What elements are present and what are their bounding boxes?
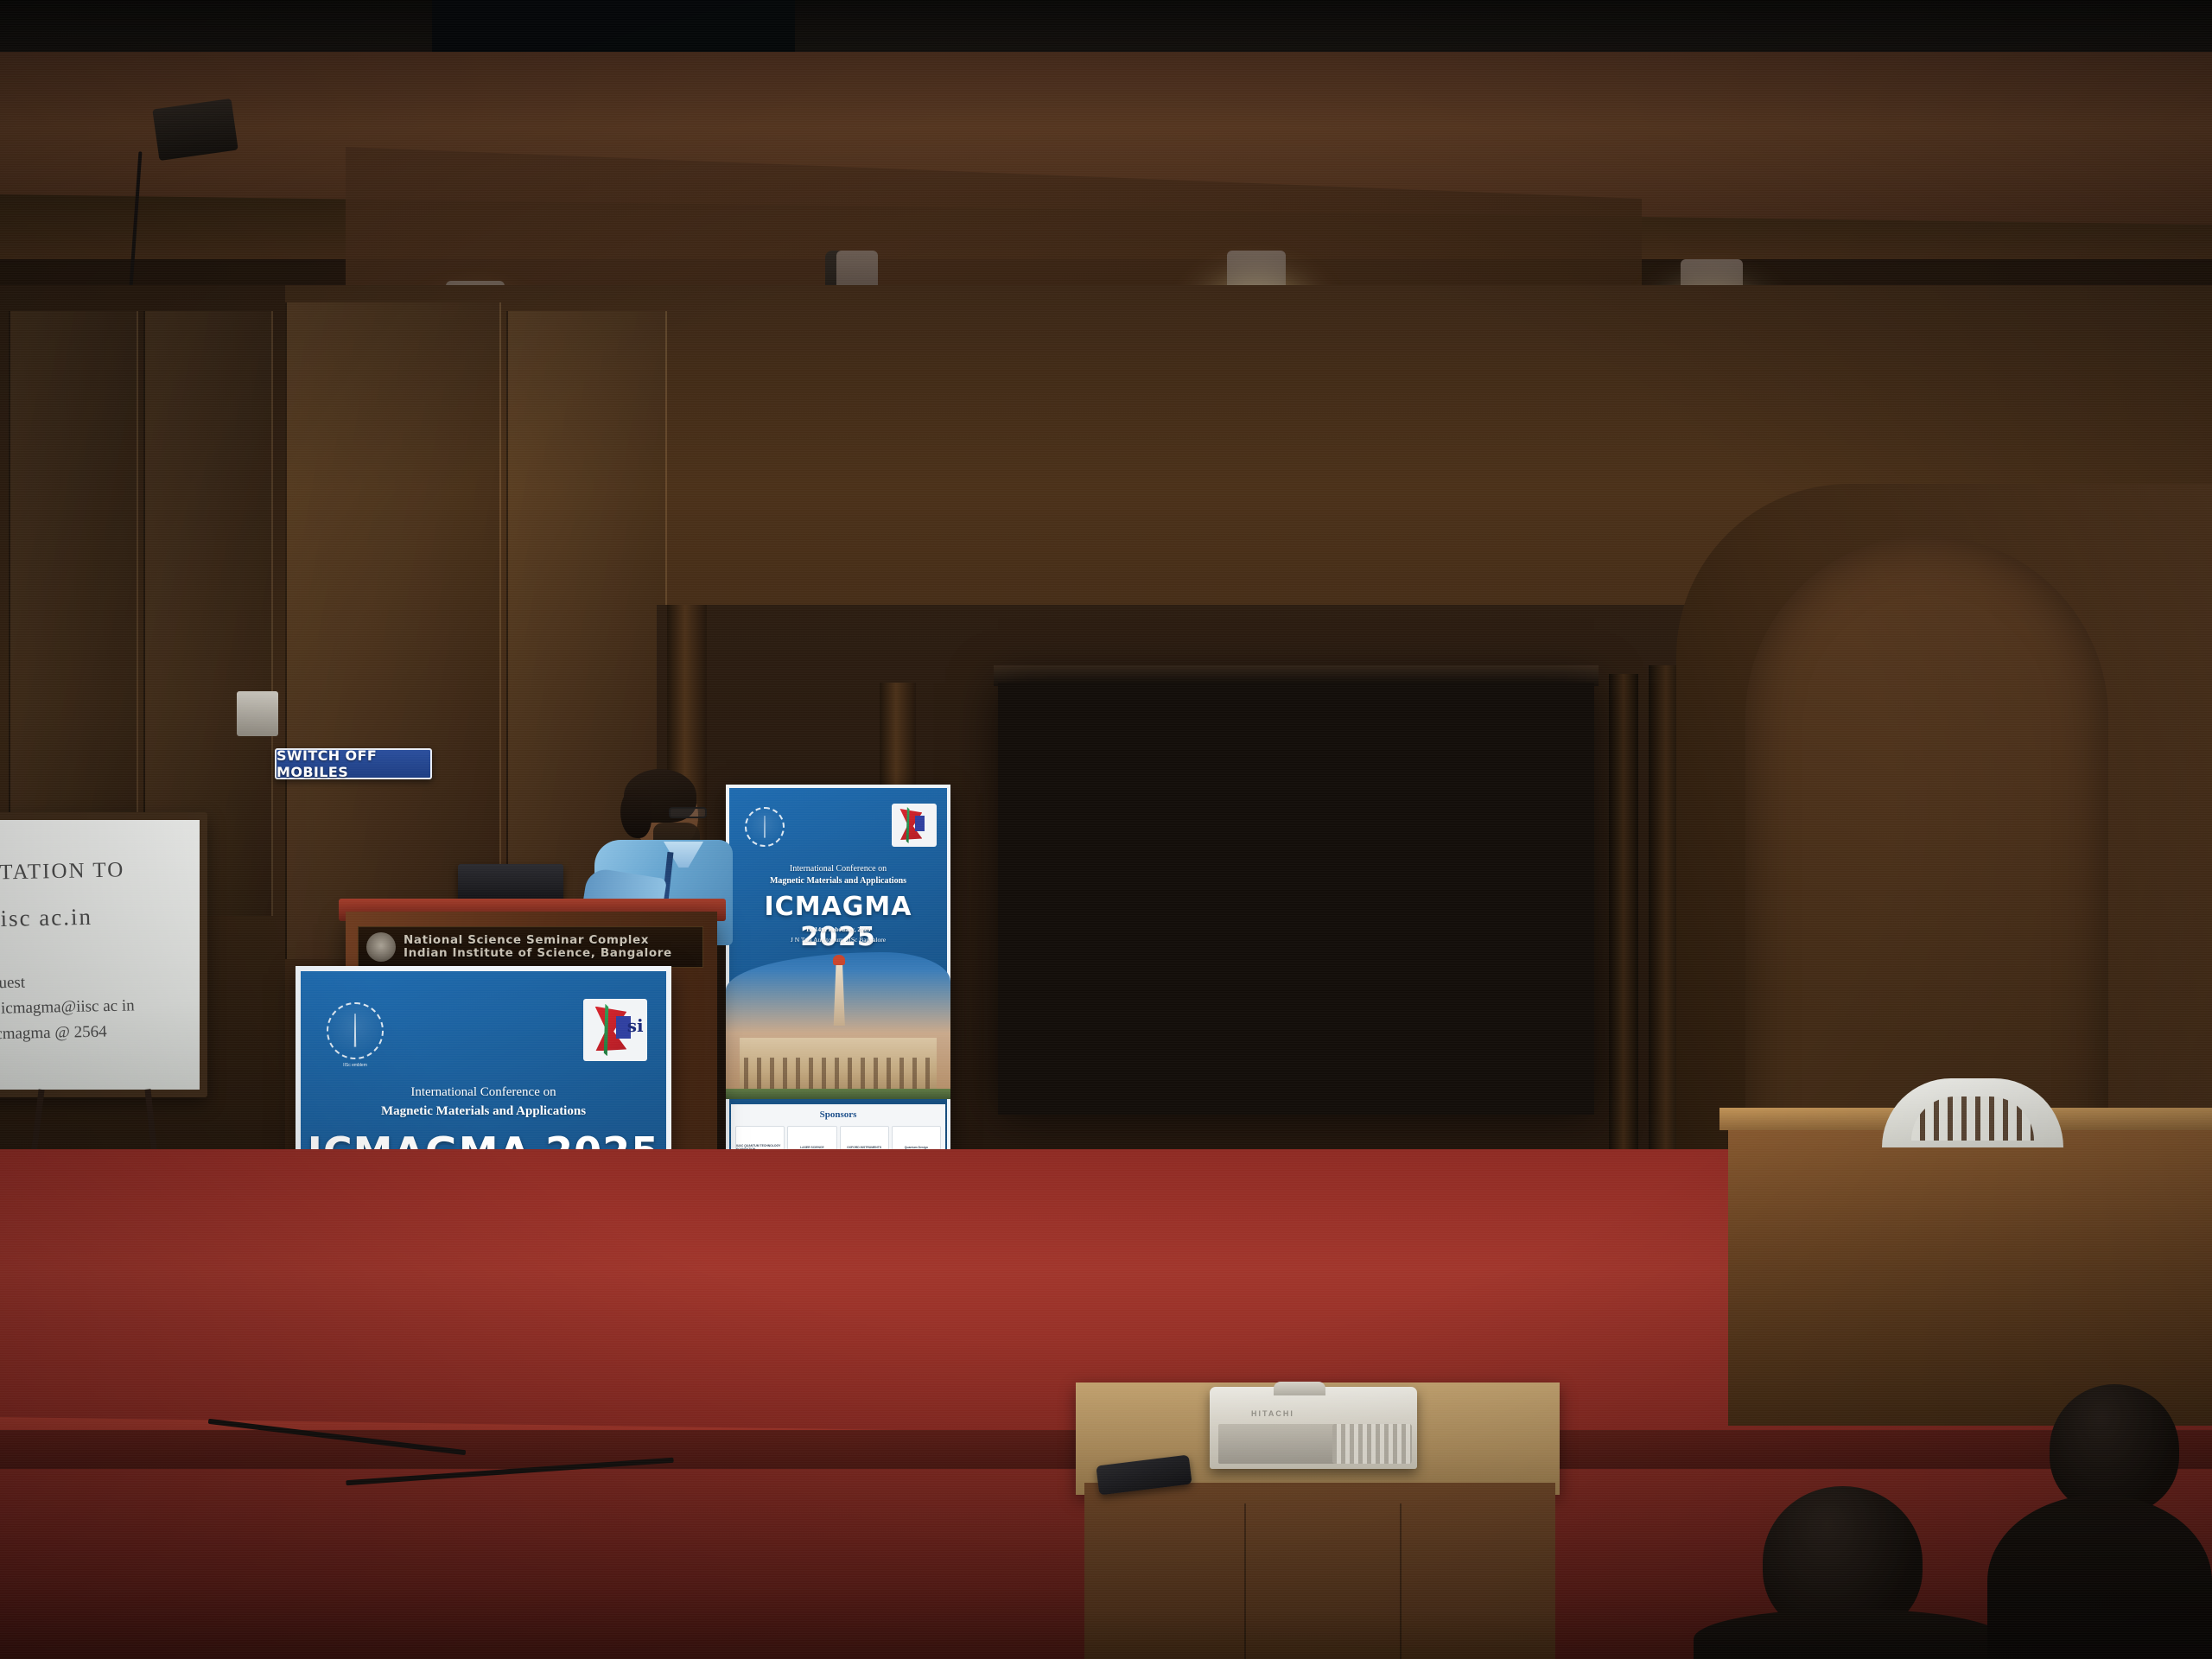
iisc-logo-icon: [745, 807, 785, 847]
banner-back-org-line1: International Conference on: [726, 864, 950, 874]
switch-off-mobiles-label: SWITCH OFF MOBILES: [276, 747, 430, 780]
iisc-logo-icon: [327, 1002, 384, 1059]
podium-line-1: National Science Seminar Complex: [404, 934, 672, 947]
projector[interactable]: HITACHI: [1210, 1387, 1417, 1469]
banner-front-org-line2: Magnetic Materials and Applications: [296, 1104, 671, 1119]
banner-front-org-line1: International Conference on: [296, 1085, 671, 1100]
whiteboard-line-3: quest: [0, 974, 25, 994]
banner-back-iisc-photo: [726, 952, 950, 1099]
podium-nameplate: National Science Seminar Complex Indian …: [358, 926, 703, 968]
ceiling-speaker-left: [152, 99, 238, 161]
table-panel-divider: [1400, 1503, 1402, 1659]
audience-head-2: [2050, 1384, 2179, 1514]
whiteboard: · ·TATION TO iisc ac.in quest icmagma@ii…: [0, 812, 207, 1097]
banner-back-dates: 12-14th February, 2025: [726, 925, 950, 933]
banner-back-org-line2: Magnetic Materials and Applications: [726, 876, 950, 886]
iisc-logo-subtext: IISc emblem: [315, 1063, 396, 1068]
podium-line-2: Indian Institute of Science, Bangalore: [404, 947, 672, 960]
projector-lens: [1274, 1382, 1325, 1395]
speaker-hair-side: [620, 788, 652, 838]
mssi-logo-icon: si: [583, 999, 647, 1061]
mssi-logo-icon: [892, 804, 937, 847]
projector-ports: [1218, 1424, 1339, 1464]
conference-hall-photo: SWITCH OFF MOBILES · ·TATION TO iisc ac.…: [0, 0, 2212, 1659]
projector-table-body: [1084, 1483, 1555, 1659]
projector-vents: [1332, 1424, 1412, 1464]
whiteboard-line-5: icmagma @ 2564: [0, 1023, 107, 1045]
banner-back-sponsors-heading: Sponsors: [731, 1104, 945, 1123]
projection-screen: Crystal structure and magnetic environme…: [998, 683, 1594, 1115]
speaker-glasses: [669, 807, 707, 818]
whiteboard-line-1: ·TATION TO: [0, 858, 125, 885]
podium-emblem-icon: [366, 932, 396, 962]
light-switch-plate[interactable]: [237, 691, 278, 736]
switch-off-mobiles-sign: SWITCH OFF MOBILES: [275, 748, 432, 779]
mssi-si-text: si: [627, 1015, 644, 1036]
side-counter: [1728, 1115, 2212, 1426]
banner-back-venue: J N Tata Auditorium, IISc Bangalore: [726, 936, 950, 944]
audience-shoulders-2: [1987, 1495, 2212, 1659]
whiteboard-line-4: icmagma@iisc ac in: [1, 996, 135, 1018]
wall-panel-3: [285, 302, 501, 959]
projector-brand-label: HITACHI: [1251, 1409, 1294, 1418]
table-panel-divider: [1244, 1503, 1246, 1659]
whiteboard-line-2: iisc ac.in: [0, 904, 92, 932]
door-edge-1: [1609, 674, 1638, 1184]
